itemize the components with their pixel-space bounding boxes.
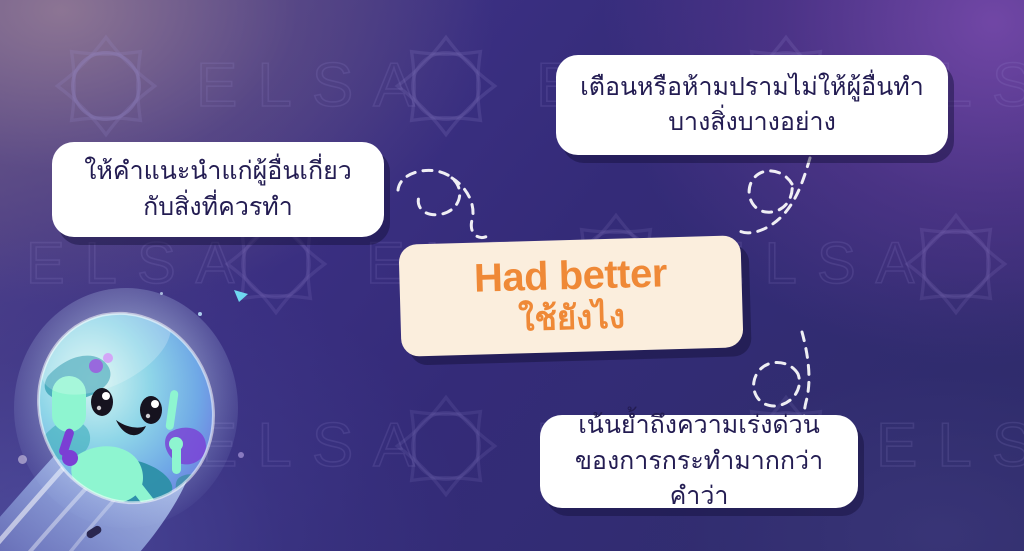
card-warning[interactable]: เตือนหรือห้ามปรามไม่ให้ผู้อื่นทำบางสิ่งบ… <box>556 55 948 155</box>
card-warning-text: เตือนหรือห้ามปรามไม่ให้ผู้อื่นทำบางสิ่งบ… <box>576 70 928 141</box>
poster-canvas: ELSA ELSA ELSA <box>0 0 1024 551</box>
title-card[interactable]: Had better ใช้ยังไง <box>399 235 744 357</box>
title-line-1: Had better <box>473 252 667 300</box>
title-line-2: ใช้ยังไง <box>518 298 626 339</box>
card-advice[interactable]: ให้คำแนะนำแก่ผู้อื่นเกี่ยวกับสิ่งที่ควรท… <box>52 142 384 237</box>
card-advice-text: ให้คำแนะนำแก่ผู้อื่นเกี่ยวกับสิ่งที่ควรท… <box>72 154 364 225</box>
elsa-comet-mascot <box>0 280 270 551</box>
card-urgency[interactable]: เน้นย้ำถึงความเร่งด่วนของการกระทำมากกว่า… <box>540 415 858 508</box>
card-urgency-text: เน้นย้ำถึงความเร่งด่วนของการกระทำมากกว่า… <box>560 408 838 515</box>
